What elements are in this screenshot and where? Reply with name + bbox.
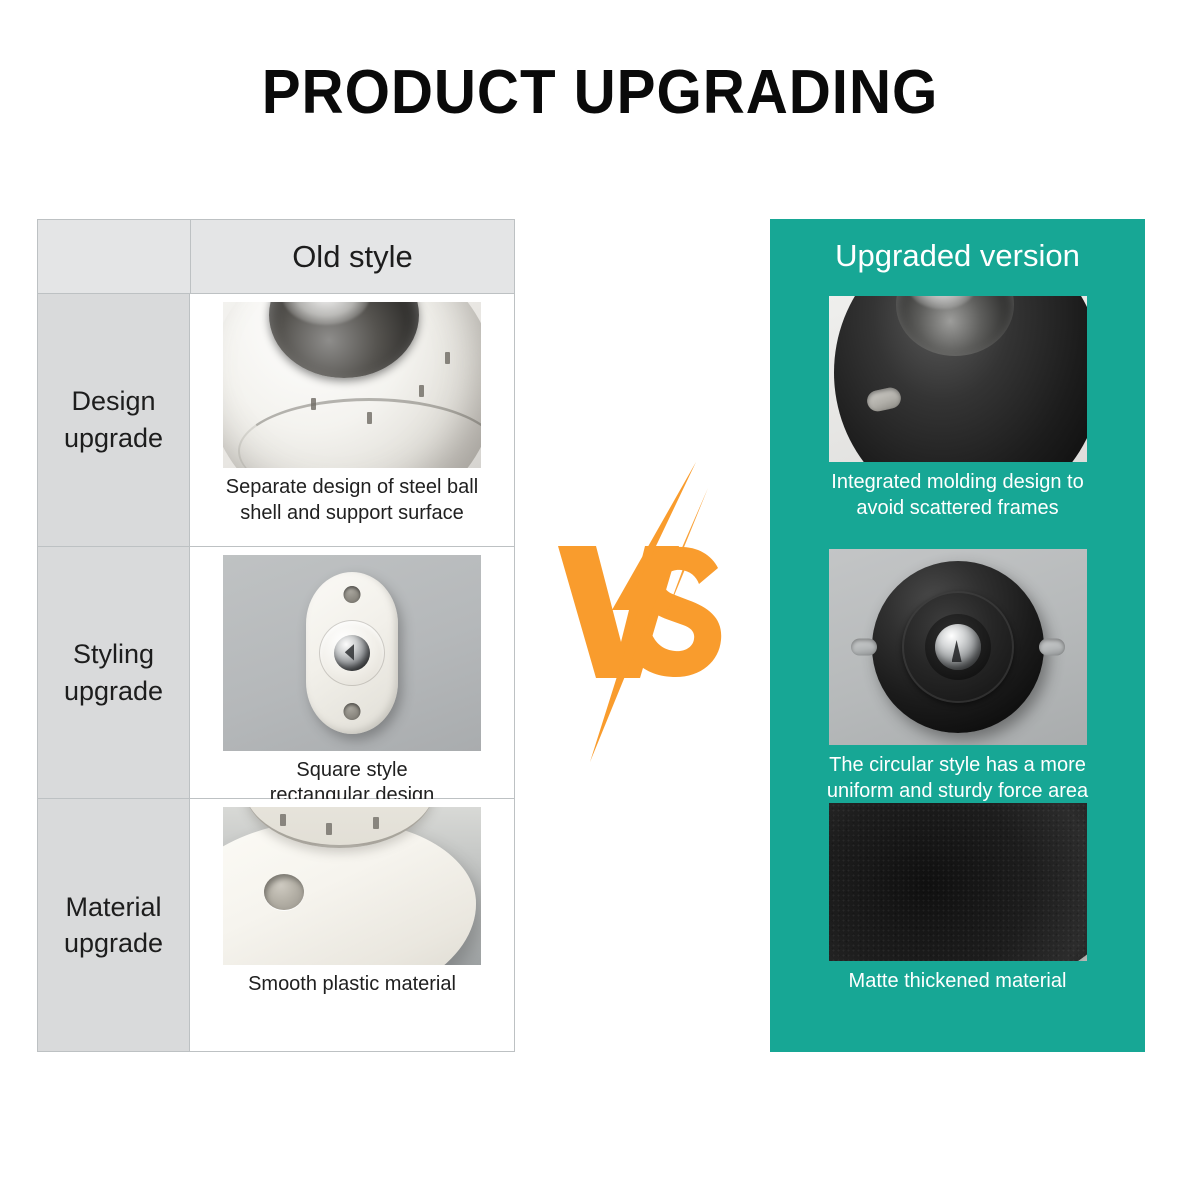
screw-slot-right — [1039, 639, 1065, 656]
black-matte-edge-photo — [829, 803, 1087, 961]
vs-lightning-icon — [548, 462, 738, 762]
screw-hole-top — [344, 586, 361, 603]
dome-notch — [367, 412, 372, 424]
row-label-line2: upgrade — [64, 928, 163, 958]
steel-ball — [935, 624, 981, 670]
table-row: Design upgrade Separate design of steel … — [38, 294, 514, 547]
caption-line2: avoid scattered frames — [856, 497, 1058, 519]
dome-notch — [311, 398, 316, 410]
row-label-line2: upgrade — [64, 423, 163, 453]
old-row-content-material: Smooth plastic material — [190, 799, 514, 1051]
caption-line1: Smooth plastic material — [248, 973, 456, 995]
new-caption-styling: The circular style has a more uniform an… — [817, 745, 1098, 804]
collar-notch — [373, 817, 379, 829]
caption-line1: Matte thickened material — [849, 970, 1067, 992]
black-ball-unit-closeup-photo — [829, 296, 1087, 462]
page-title: PRODUCT UPGRADING — [36, 62, 1164, 124]
caption-line2: shell and support surface — [240, 502, 463, 524]
caption-line1: Integrated molding design to — [831, 471, 1083, 493]
row-label-line1: Material — [65, 892, 161, 922]
old-row-content-design: Separate design of steel ball shell and … — [190, 294, 514, 546]
old-caption-design: Separate design of steel ball shell and … — [222, 468, 482, 526]
upgraded-row-design: Integrated molding design to avoid scatt… — [770, 292, 1145, 545]
row-label-styling-upgrade: Styling upgrade — [38, 547, 190, 799]
row-label-line2: upgrade — [64, 676, 163, 706]
old-style-comparison-table: Old style Design upgrade Separate design… — [37, 219, 515, 1052]
row-label-material-upgrade: Material upgrade — [38, 799, 190, 1051]
caption-line1: Square style — [296, 759, 407, 781]
white-glossy-plastic-edge-photo — [223, 807, 481, 965]
dome-notch — [445, 352, 450, 364]
caption-line1: The circular style has a more — [829, 754, 1086, 776]
table-corner-cell — [38, 220, 191, 293]
steel-ball — [334, 635, 370, 671]
old-style-header-label: Old style — [191, 220, 514, 293]
screw-slot-left — [851, 639, 877, 656]
old-row-content-styling: Square style rectangular design — [190, 547, 514, 799]
table-row: Material upgrade Smooth plastic material — [38, 799, 514, 1051]
old-caption-material: Smooth plastic material — [244, 965, 460, 998]
screw-hole — [264, 874, 304, 910]
white-oval-caster-photo — [223, 555, 481, 751]
inner-rim-line — [829, 803, 1087, 961]
upgraded-row-styling: The circular style has a more uniform an… — [770, 545, 1145, 798]
table-row: Styling upgrade Square style rectangular… — [38, 547, 514, 800]
upgraded-row-material: Matte thickened material — [770, 799, 1145, 1052]
collar-notch — [280, 814, 286, 826]
old-style-header-row: Old style — [38, 220, 514, 294]
black-round-caster-photo — [829, 549, 1087, 745]
dome-notch — [419, 385, 424, 397]
row-label-line1: Styling — [73, 639, 154, 669]
caption-line1: Separate design of steel ball — [226, 476, 478, 498]
upgraded-version-header-label: Upgraded version — [770, 219, 1145, 292]
row-label-line1: Design — [71, 386, 155, 416]
row-label-design-upgrade: Design upgrade — [38, 294, 190, 546]
screw-hole-bottom — [344, 703, 361, 720]
white-ball-unit-closeup-photo — [223, 302, 481, 468]
new-caption-design: Integrated molding design to avoid scatt… — [821, 462, 1093, 521]
upgraded-version-panel: Upgraded version Integrated molding desi… — [770, 219, 1145, 1052]
white-oval-plate — [306, 572, 398, 734]
new-caption-material: Matte thickened material — [839, 961, 1077, 995]
collar-notch — [326, 823, 332, 835]
